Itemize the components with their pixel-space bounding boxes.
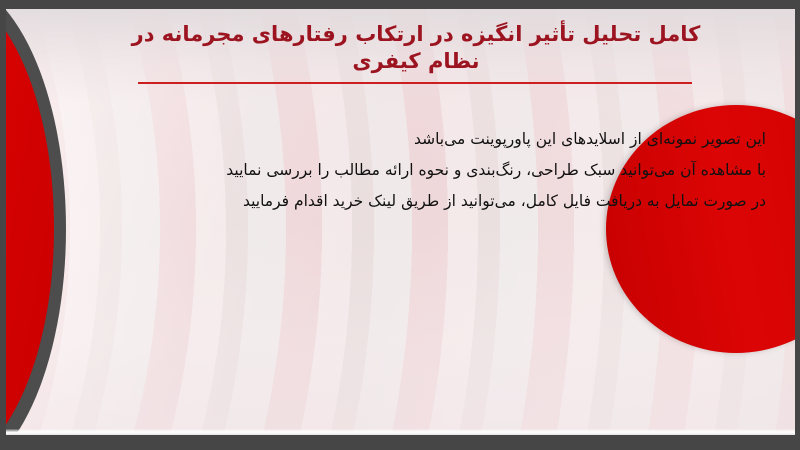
body-line-3: در صورت تمایل به دریافت فایل کامل، می‌تو… [156, 189, 766, 213]
frame-top-border [0, 0, 800, 9]
frame-bottom-border [0, 436, 800, 450]
page-title: کامل تحلیل تأثیر انگیزه در ارتکاب رفتاره… [126, 21, 706, 75]
frame-left-border [0, 0, 6, 450]
frame-right-border [795, 0, 800, 450]
body-line-2: با مشاهده آن می‌توانید سبک طراحی، رنگ‌بن… [156, 158, 766, 182]
slide-canvas: کامل تحلیل تأثیر انگیزه در ارتکاب رفتاره… [0, 0, 800, 450]
panel-bottom-highlight [6, 429, 795, 435]
title-underline-rule [138, 82, 692, 84]
slide-content-panel: کامل تحلیل تأثیر انگیزه در ارتکاب رفتاره… [6, 9, 795, 435]
slide-title-block: کامل تحلیل تأثیر انگیزه در ارتکاب رفتاره… [126, 21, 706, 75]
slide-body-block: این تصویر نمونه‌ای از اسلایدهای این پاور… [156, 127, 766, 213]
body-line-1: این تصویر نمونه‌ای از اسلایدهای این پاور… [156, 127, 766, 151]
